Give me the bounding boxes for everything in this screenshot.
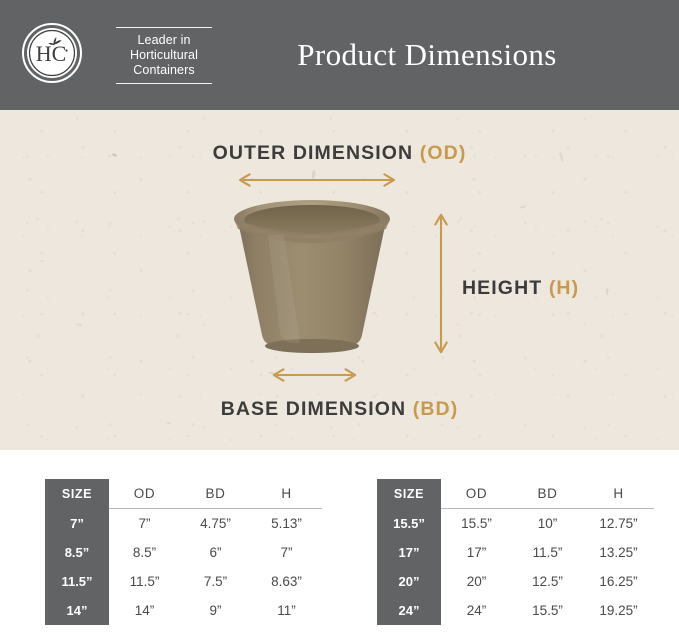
table-row: 17” 17” 11.5” 13.25” [377, 538, 654, 567]
cell-h: 12.75” [583, 509, 654, 539]
cell-size: 17” [377, 538, 441, 567]
page-header: HC Leader in Horticultural Containers Pr… [0, 0, 679, 110]
cell-size: 24” [377, 596, 441, 625]
cell-size: 8.5” [45, 538, 109, 567]
cell-h: 7” [251, 538, 322, 567]
cell-size: 20” [377, 567, 441, 596]
brand-tagline-block: Leader in Horticultural Containers [100, 27, 212, 84]
dimension-table-left: SIZE OD BD H 7” 7” 4.75” 5.13” 8.5” 8.5”… [45, 479, 322, 625]
table-header-row: SIZE OD BD H [377, 479, 654, 509]
base-dimension-arrow-icon [263, 368, 366, 382]
column-header-size: SIZE [377, 479, 441, 509]
height-arrow-icon [434, 200, 448, 367]
height-label: HEIGHT (H) [462, 277, 579, 300]
cell-od: 17” [441, 538, 512, 567]
column-header-bd: BD [180, 479, 251, 509]
column-header-od: OD [109, 479, 180, 509]
cell-bd: 7.5” [180, 567, 251, 596]
brand-lockup: HC Leader in Horticultural Containers [22, 23, 212, 87]
outer-dimension-tag: (OD) [420, 142, 467, 164]
cell-bd: 11.5” [512, 538, 583, 567]
tagline-line-2: Horticultural [130, 48, 198, 63]
column-header-od: OD [441, 479, 512, 509]
cell-size: 14” [45, 596, 109, 625]
cell-size: 15.5” [377, 509, 441, 539]
table-row: 15.5” 15.5” 10” 12.75” [377, 509, 654, 539]
table-header-row: SIZE OD BD H [45, 479, 322, 509]
table-body: 7” 7” 4.75” 5.13” 8.5” 8.5” 6” 7” 11.5” … [45, 509, 322, 626]
outer-dimension-text: OUTER DIMENSION [213, 142, 414, 164]
page-title-text: Product Dimensions [297, 37, 557, 73]
brand-rule-top [116, 27, 212, 28]
planter-pot-illustration [222, 195, 402, 370]
cell-bd: 15.5” [512, 596, 583, 625]
base-dimension-label: BASE DIMENSION (BD) [0, 398, 679, 421]
cell-h: 11” [251, 596, 322, 625]
cell-bd: 12.5” [512, 567, 583, 596]
table-row: 14” 14” 9” 11” [45, 596, 322, 625]
cell-od: 20” [441, 567, 512, 596]
cell-od: 8.5” [109, 538, 180, 567]
height-text: HEIGHT [462, 277, 542, 299]
cell-od: 14” [109, 596, 180, 625]
cell-od: 7” [109, 509, 180, 539]
dimension-table-right: SIZE OD BD H 15.5” 15.5” 10” 12.75” 17” … [377, 479, 654, 625]
tagline-line-3: Containers [130, 63, 198, 78]
cell-h: 16.25” [583, 567, 654, 596]
hc-circle-leaf-logo-icon: HC [22, 23, 86, 87]
base-dimension-tag: (BD) [413, 398, 459, 420]
table-row: 24” 24” 15.5” 19.25” [377, 596, 654, 625]
cell-od: 11.5” [109, 567, 180, 596]
tagline-line-1: Leader in [130, 33, 198, 48]
cell-h: 19.25” [583, 596, 654, 625]
diagram-panel: OUTER DIMENSION (OD) [0, 110, 679, 450]
column-header-h: H [583, 479, 654, 509]
brand-tagline: Leader in Horticultural Containers [130, 28, 198, 83]
cell-h: 8.63” [251, 567, 322, 596]
outer-dimension-arrow-icon [224, 173, 410, 187]
cell-bd: 10” [512, 509, 583, 539]
logo-hc-mark: HC [27, 28, 77, 78]
cell-od: 24” [441, 596, 512, 625]
dimension-tables: SIZE OD BD H 7” 7” 4.75” 5.13” 8.5” 8.5”… [0, 450, 679, 636]
height-tag: (H) [549, 277, 579, 299]
cell-od: 15.5” [441, 509, 512, 539]
cell-h: 13.25” [583, 538, 654, 567]
outer-dimension-label: OUTER DIMENSION (OD) [0, 142, 679, 165]
table-row: 7” 7” 4.75” 5.13” [45, 509, 322, 539]
cell-size: 11.5” [45, 567, 109, 596]
cell-size: 7” [45, 509, 109, 539]
table-row: 11.5” 11.5” 7.5” 8.63” [45, 567, 322, 596]
cell-bd: 9” [180, 596, 251, 625]
cell-bd: 4.75” [180, 509, 251, 539]
column-header-h: H [251, 479, 322, 509]
table-body: 15.5” 15.5” 10” 12.75” 17” 17” 11.5” 13.… [377, 509, 654, 626]
cell-bd: 6” [180, 538, 251, 567]
column-header-bd: BD [512, 479, 583, 509]
table-row: 8.5” 8.5” 6” 7” [45, 538, 322, 567]
table-row: 20” 20” 12.5” 16.25” [377, 567, 654, 596]
base-dimension-text: BASE DIMENSION [221, 398, 407, 420]
brand-rule-bottom [116, 83, 212, 84]
column-header-size: SIZE [45, 479, 109, 509]
svg-text:HC: HC [36, 41, 67, 66]
cell-h: 5.13” [251, 509, 322, 539]
